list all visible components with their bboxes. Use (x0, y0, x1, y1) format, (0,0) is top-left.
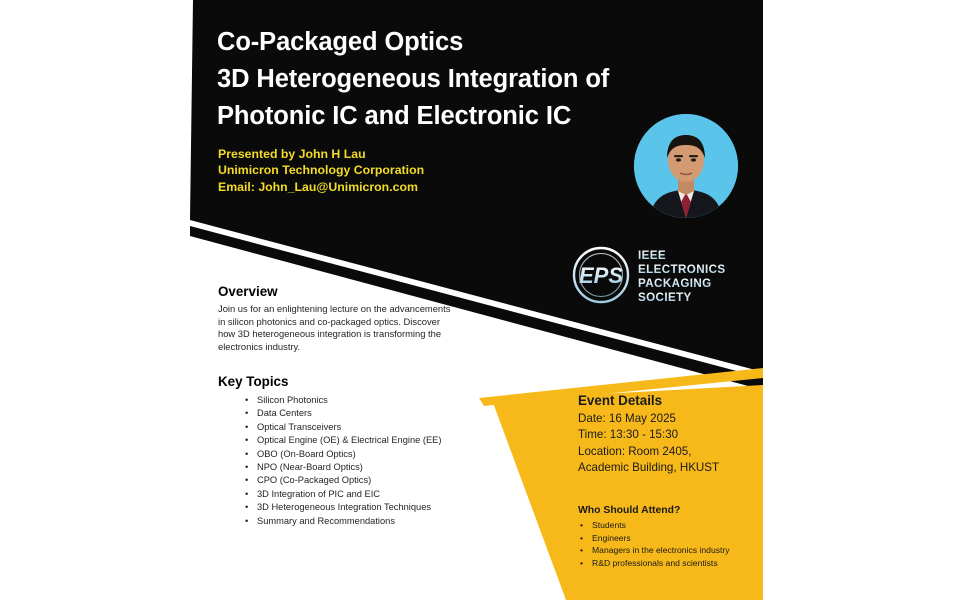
list-item-label: CPO (Co-Packaged Optics) (257, 475, 371, 485)
bullet-icon: • (245, 407, 248, 420)
who-should-attend-section: Who Should Attend? •Students •Engineers … (578, 504, 763, 569)
bullet-icon: • (245, 515, 248, 528)
list-item: •Silicon Photonics (218, 394, 518, 407)
list-item-label: NPO (Near-Board Optics) (257, 462, 363, 472)
list-item: •3D Heterogeneous Integration Techniques (218, 501, 518, 514)
presenter-organization: Unimicron Technology Corporation (218, 162, 638, 178)
key-topics-heading: Key Topics (218, 374, 518, 390)
list-item: •Engineers (578, 532, 763, 545)
list-item-label: Students (592, 520, 626, 530)
bullet-icon: • (580, 519, 583, 532)
list-item: •Managers in the electronics industry (578, 544, 763, 557)
list-item: •3D Integration of PIC and EIC (218, 488, 518, 501)
list-item: •CPO (Co-Packaged Optics) (218, 474, 518, 487)
presenter-email: Email: John_Lau@Unimicron.com (218, 179, 638, 195)
event-location-line-1: Location: Room 2405, (578, 444, 758, 460)
bullet-icon: • (245, 448, 248, 461)
title-line-1: Co-Packaged Optics (217, 24, 657, 61)
list-item-label: Silicon Photonics (257, 395, 328, 405)
bullet-icon: • (245, 501, 248, 514)
bullet-icon: • (580, 557, 583, 570)
bullet-icon: • (245, 474, 248, 487)
presenter-info: Presented by John H Lau Unimicron Techno… (218, 146, 638, 195)
list-item-label: Optical Engine (OE) & Electrical Engine … (257, 435, 441, 445)
event-details-section: Event Details Date: 16 May 2025 Time: 13… (578, 392, 758, 476)
list-item-label: Optical Transceivers (257, 422, 341, 432)
bullet-icon: • (245, 421, 248, 434)
who-should-attend-heading: Who Should Attend? (578, 504, 763, 517)
title-line-2: 3D Heterogeneous Integration of (217, 61, 657, 98)
avatar (634, 114, 738, 218)
eps-monogram-text: EPS (579, 263, 623, 288)
ieee-eps-logo: EPS IEEE ELECTRONICS PACKAGING SOCIETY (570, 244, 745, 306)
list-item-label: 3D Integration of PIC and EIC (257, 489, 380, 499)
event-details-heading: Event Details (578, 392, 758, 409)
event-location-line-2: Academic Building, HKUST (578, 460, 758, 476)
event-poster: Co-Packaged Optics 3D Heterogeneous Inte… (0, 0, 960, 600)
ieee-eps-logo-icon: EPS IEEE ELECTRONICS PACKAGING SOCIETY (570, 244, 745, 306)
logo-name-line-2: ELECTRONICS (638, 263, 726, 276)
event-date: Date: 16 May 2025 (578, 411, 758, 427)
overview-section: Overview Join us for an enlightening lec… (218, 284, 453, 353)
list-item-label: 3D Heterogeneous Integration Techniques (257, 502, 431, 512)
portrait-photo-icon (634, 114, 738, 218)
list-item: •Data Centers (218, 407, 518, 420)
title-line-3: Photonic IC and Electronic IC (217, 98, 657, 135)
logo-name-line-1: IEEE (638, 249, 666, 262)
list-item-label: Engineers (592, 533, 631, 543)
key-topics-section: Key Topics •Silicon Photonics •Data Cent… (218, 374, 518, 528)
list-item: •Optical Transceivers (218, 421, 518, 434)
bullet-icon: • (580, 532, 583, 545)
logo-name-line-3: PACKAGING (638, 277, 712, 290)
key-topics-list: •Silicon Photonics •Data Centers •Optica… (218, 394, 518, 528)
poster-title: Co-Packaged Optics 3D Heterogeneous Inte… (217, 24, 657, 135)
overview-heading: Overview (218, 284, 453, 300)
list-item-label: Managers in the electronics industry (592, 545, 730, 555)
bullet-icon: • (245, 434, 248, 447)
list-item: •Optical Engine (OE) & Electrical Engine… (218, 434, 518, 447)
bullet-icon: • (245, 461, 248, 474)
overview-body: Join us for an enlightening lecture on t… (218, 303, 453, 353)
list-item-label: OBO (On-Board Optics) (257, 449, 356, 459)
bullet-icon: • (245, 488, 248, 501)
logo-name-line-4: SOCIETY (638, 291, 692, 304)
presenter-name: Presented by John H Lau (218, 146, 638, 162)
list-item-label: Summary and Recommendations (257, 516, 395, 526)
event-time: Time: 13:30 - 15:30 (578, 427, 758, 443)
list-item: •NPO (Near-Board Optics) (218, 461, 518, 474)
list-item: •OBO (On-Board Optics) (218, 448, 518, 461)
list-item: •Summary and Recommendations (218, 515, 518, 528)
list-item: •R&D professionals and scientists (578, 557, 763, 570)
who-should-attend-list: •Students •Engineers •Managers in the el… (578, 519, 763, 569)
bullet-icon: • (580, 544, 583, 557)
bullet-icon: • (245, 394, 248, 407)
list-item-label: Data Centers (257, 408, 312, 418)
list-item: •Students (578, 519, 763, 532)
list-item-label: R&D professionals and scientists (592, 558, 718, 568)
